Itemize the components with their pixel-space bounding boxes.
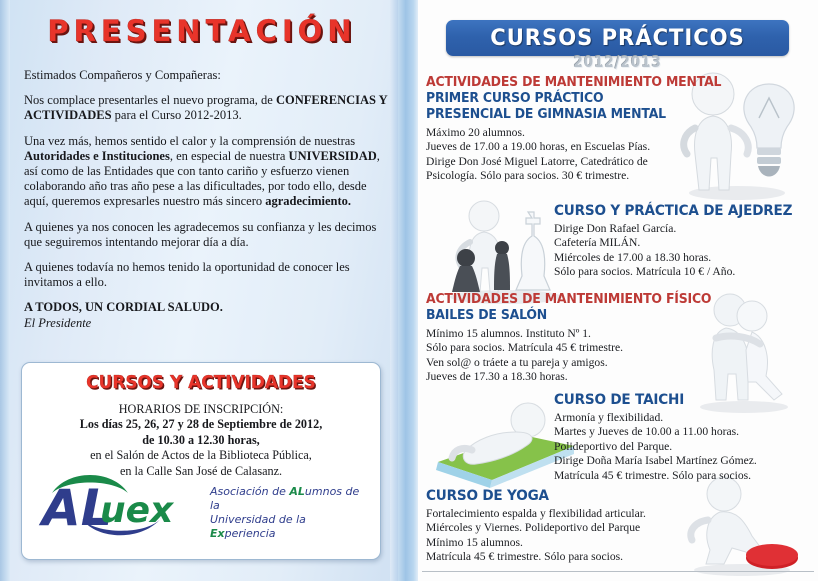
tagline-1-em: AL — [289, 485, 305, 498]
body-line: Cafetería MILÁN. — [554, 236, 814, 250]
section-ajedrez-body: Dirige Don Rafael García.Cafetería MILÁN… — [554, 222, 814, 280]
brochure-page: PRESENTACIÓN Estimados Compañeros y Comp… — [0, 0, 818, 581]
body-line: Jueves de 17.30 a 18.30 horas. — [426, 370, 696, 384]
svg-text:uex: uex — [100, 490, 175, 531]
body-line: Miércoles y Viernes. Polideportivo del P… — [426, 521, 696, 535]
section-mental-heading-red: ACTIVIDADES DE MANTENIMIENTO MENTAL — [426, 75, 668, 91]
schedule-line: HORARIOS DE INSCRIPCIÓN: — [22, 402, 380, 417]
text-run: A quienes ya nos conocen les agradecemos… — [24, 220, 376, 249]
section-taichi-heading: CURSO DE TAICHI — [554, 392, 796, 408]
cursos-actividades-box: CURSOS Y ACTIVIDADES HORARIOS DE INSCRIP… — [21, 362, 381, 560]
body-line: Martes y Jueves de 10.00 a 11.00 horas. — [554, 425, 814, 439]
body-line: Jueves de 17.00 a 19.00 horas, en Escuel… — [426, 140, 686, 154]
right-page: CURSOS PRÁCTICOS 2012/2013 — [418, 0, 818, 581]
schedule-line: Los días 25, 26, 27 y 28 de Septiembre d… — [22, 417, 380, 432]
paragraph-known: A quienes ya nos conocen les agradecemos… — [24, 220, 390, 250]
schedule-line: de 10.30 a 12.30 horas, — [22, 433, 380, 448]
body-line: Polideportivo del Parque. — [554, 440, 814, 454]
body-line: Matrícula 45 € trimestre. Sólo para soci… — [426, 550, 696, 564]
text-run: Nos complace presentarles el nuevo progr… — [24, 93, 276, 107]
body-line: Matrícula 45 € trimestre. Sólo para soci… — [554, 469, 814, 483]
paragraph-intro: Nos complace presentarles el nuevo progr… — [24, 93, 390, 123]
left-page: PRESENTACIÓN Estimados Compañeros y Comp… — [0, 0, 404, 581]
body-line: Psicología. Sólo para socios. 30 € trime… — [426, 169, 686, 183]
tagline-2-post: periencia — [225, 527, 276, 540]
closing-text: A TODOS, UN CORDIAL SALUDO. — [24, 300, 223, 314]
section-yoga: CURSO DE YOGA Fortalecimiento espalda y … — [426, 488, 696, 565]
tagline-2-pre: Universidad de la — [210, 513, 306, 526]
body-line: Mínimo 15 alumnos. — [426, 536, 696, 550]
body-line: Armonía y flexibilidad. — [554, 411, 814, 425]
presentation-body: Estimados Compañeros y Compañeras: Nos c… — [24, 68, 390, 331]
body-line: Dirige Don José Miguel Latorre, Catedrát… — [426, 155, 686, 169]
paragraph-closing: A TODOS, UN CORDIAL SALUDO. El President… — [24, 300, 390, 330]
body-line: Dirige Doña María Isabel Martínez Gómez. — [554, 454, 814, 468]
page-fold-seam — [398, 0, 420, 581]
text-run: , en especial de nuestra — [170, 149, 289, 163]
body-line: Mínimo 15 alumnos. Instituto Nº 1. — [426, 327, 696, 341]
aluex-logo: AL uex Asociación de ALumnos de la Unive… — [38, 463, 368, 541]
banner-title: CURSOS PRÁCTICOS — [453, 20, 782, 56]
text-run: para el Curso 2012-2013. — [112, 108, 242, 122]
body-line: Sólo para socios. Matrícula 45 € trimest… — [426, 341, 696, 355]
section-mental: ACTIVIDADES DE MANTENIMIENTO MENTAL PRIM… — [426, 75, 686, 184]
section-taichi-body: Armonía y flexibilidad.Martes y Jueves d… — [554, 411, 814, 483]
section-mental-body: Máximo 20 alumnos.Jueves de 17.00 a 19.0… — [426, 126, 686, 184]
text-run: UNIVERSIDAD — [289, 149, 377, 163]
section-yoga-heading: CURSO DE YOGA — [426, 488, 677, 504]
section-bailes: ACTIVIDADES DE MANTENIMIENTO FÍSICO BAIL… — [426, 292, 696, 385]
paragraph-greeting: Estimados Compañeros y Compañeras: — [24, 68, 390, 83]
body-line: Dirige Don Rafael García. — [554, 222, 814, 236]
schedule-line: en el Salón de Actos de la Biblioteca Pú… — [22, 448, 380, 463]
signature-text: El Presidente — [24, 316, 91, 330]
section-bailes-heading-red: ACTIVIDADES DE MANTENIMIENTO FÍSICO — [426, 292, 677, 308]
cursos-actividades-title: CURSOS Y ACTIVIDADES — [33, 372, 370, 393]
cursos-practicos-banner: CURSOS PRÁCTICOS — [446, 20, 789, 56]
paragraph-thanks: Una vez más, hemos sentido el calor y la… — [24, 134, 390, 210]
text-run: Autoridades e Instituciones — [24, 149, 170, 163]
section-bailes-heading-blue: BAILES DE SALÓN — [426, 308, 677, 324]
body-line: Miércoles de 17.00 a 18.30 horas. — [554, 251, 814, 265]
section-ajedrez: CURSO Y PRÁCTICA DE AJEDREZ Dirige Don R… — [554, 203, 814, 280]
text-run: Estimados Compañeros y Compañeras: — [24, 68, 221, 82]
section-mental-heading-blue-1: PRIMER CURSO PRÁCTICO — [426, 91, 668, 107]
aluex-logo-mark: AL uex — [38, 467, 206, 537]
body-line: Sólo para socios. Matrícula 10 € / Año. — [554, 265, 814, 279]
aluex-tagline: Asociación de ALumnos de la Universidad … — [210, 485, 370, 541]
section-taichi: CURSO DE TAICHI Armonía y flexibilidad.M… — [554, 392, 814, 483]
bottom-divider — [422, 571, 814, 572]
page-title-presentacion: PRESENTACIÓN — [0, 14, 404, 48]
section-ajedrez-heading: CURSO Y PRÁCTICA DE AJEDREZ — [554, 203, 796, 219]
tagline-2-em: Ex — [210, 527, 225, 540]
section-bailes-body: Mínimo 15 alumnos. Instituto Nº 1.Sólo p… — [426, 327, 696, 385]
section-yoga-body: Fortalecimiento espalda y flexibilidad a… — [426, 507, 696, 565]
text-run: agradecimiento. — [265, 194, 351, 208]
body-line: Fortalecimiento espalda y flexibilidad a… — [426, 507, 696, 521]
paragraph-unknown: A quienes todavía no hemos tenido la opo… — [24, 260, 390, 290]
section-mental-heading-blue-2: PRESENCIAL DE GIMNASIA MENTAL — [426, 107, 668, 123]
figure-stretching-on-red-disc-icon — [680, 472, 806, 576]
text-run: A quienes todavía no hemos tenido la opo… — [24, 260, 350, 289]
body-line: Ven sol@ o tráete a tu pareja y amigos. — [426, 356, 696, 370]
tagline-1-pre: Asociación de — [210, 485, 289, 498]
body-line: Máximo 20 alumnos. — [426, 126, 686, 140]
text-run: Una vez más, hemos sentido el calor y la… — [24, 134, 355, 148]
